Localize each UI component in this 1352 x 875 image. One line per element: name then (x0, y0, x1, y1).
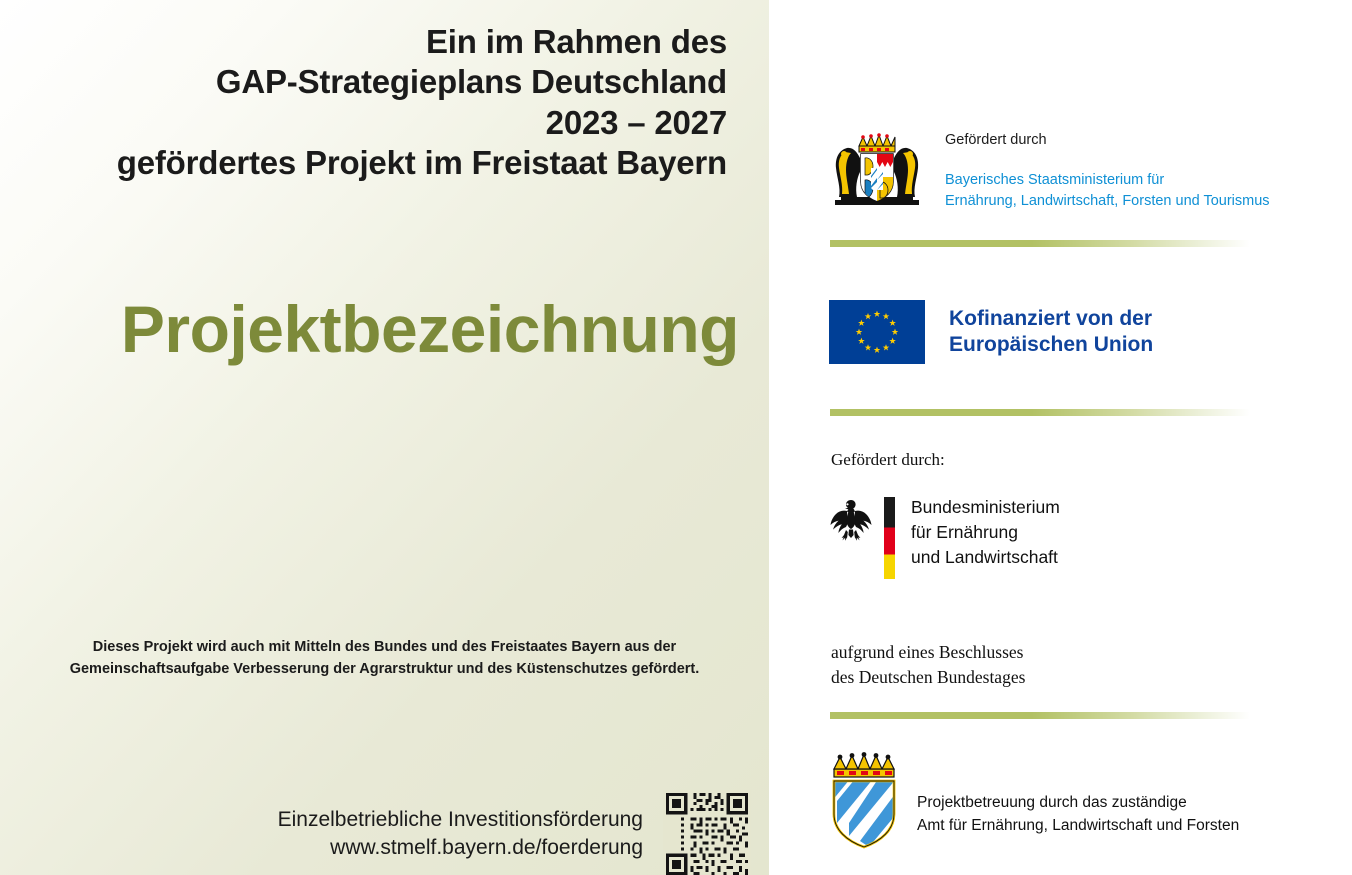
project-sign-poster: Ein im Rahmen des GAP-Strategieplans Deu… (0, 0, 1352, 875)
footnote-line-1: Dieses Projekt wird auch mit Mitteln des… (24, 637, 745, 659)
eu-logo-block: Kofinanziert von der Europäischen Union (829, 300, 1153, 364)
heading-line-3: 2023 – 2027 (27, 103, 727, 143)
footer-programme-label: Einzelbetriebliche Investitionsförderung (278, 806, 643, 834)
bundestag-line-1: aufgrund eines Beschlusses (831, 640, 1025, 665)
european-union-flag-icon (829, 300, 925, 364)
ministry-name-line-1: Bayerisches Staatsministerium für (945, 170, 1270, 191)
bmel-name-line-1: Bundesministerium (911, 495, 1060, 520)
heading-line-1: Ein im Rahmen des (27, 22, 727, 62)
footnote-line-2: Gemeinschaftsaufgabe Verbesserung der Ag… (24, 659, 745, 681)
eu-text-line-2: Europäischen Union (949, 332, 1153, 358)
bmel-funded-by-label: Gefördert durch: (831, 450, 945, 470)
bavarian-state-coat-of-arms-icon (827, 130, 927, 208)
right-column: Gefördert durch Bayerisches Staatsminist… (769, 0, 1352, 875)
qr-code[interactable] (663, 790, 751, 875)
aelf-text: Projektbetreuung durch das zuständige Am… (917, 765, 1239, 838)
federal-eagle-icon (827, 497, 875, 549)
footer-website-url[interactable]: www.stmelf.bayern.de/foerderung (278, 834, 643, 862)
ministry-name: Bayerisches Staatsministerium für Ernähr… (945, 170, 1270, 212)
page-heading: Ein im Rahmen des GAP-Strategieplans Deu… (27, 22, 727, 183)
bmel-logo-block: Bundesministerium für Ernährung und Land… (827, 495, 1060, 579)
footer-block: Einzelbetriebliche Investitionsförderung… (40, 790, 751, 875)
divider-1 (830, 240, 1250, 247)
aelf-line-1: Projektbetreuung durch das zuständige (917, 791, 1239, 814)
project-title: Projektbezeichnung (0, 296, 739, 362)
bmel-name-line-2: für Ernährung (911, 520, 1060, 545)
ministry-name-line-2: Ernährung, Landwirtschaft, Forsten und T… (945, 191, 1270, 212)
divider-2 (830, 409, 1250, 416)
heading-line-4: gefördertes Projekt im Freistaat Bayern (27, 143, 727, 183)
bmel-name-line-3: und Landwirtschaft (911, 545, 1060, 570)
aelf-logo-block: Projektbetreuung durch das zuständige Am… (827, 752, 1239, 850)
funded-by-label: Gefördert durch (945, 132, 1270, 148)
bmel-name: Bundesministerium für Ernährung und Land… (904, 495, 1060, 570)
stmelf-logo-block: Gefördert durch Bayerisches Staatsminist… (827, 130, 1270, 212)
funding-footnote: Dieses Projekt wird auch mit Mitteln des… (24, 637, 745, 681)
divider-3 (830, 712, 1250, 719)
footer-text: Einzelbetriebliche Investitionsförderung… (278, 806, 643, 863)
left-panel: Ein im Rahmen des GAP-Strategieplans Deu… (0, 0, 769, 875)
bavarian-shield-icon (827, 752, 901, 850)
heading-line-2: GAP-Strategieplans Deutschland (27, 62, 727, 102)
bundestag-resolution-text: aufgrund eines Beschlusses des Deutschen… (831, 640, 1025, 689)
aelf-line-2: Amt für Ernährung, Landwirtschaft und Fo… (917, 814, 1239, 837)
bundestag-line-2: des Deutschen Bundestages (831, 665, 1025, 690)
eu-text-line-1: Kofinanziert von der (949, 306, 1153, 332)
eu-cofinancing-text: Kofinanziert von der Europäischen Union (949, 306, 1153, 357)
stmelf-text: Gefördert durch Bayerisches Staatsminist… (945, 130, 1270, 212)
german-flag-bar-icon (884, 497, 895, 579)
